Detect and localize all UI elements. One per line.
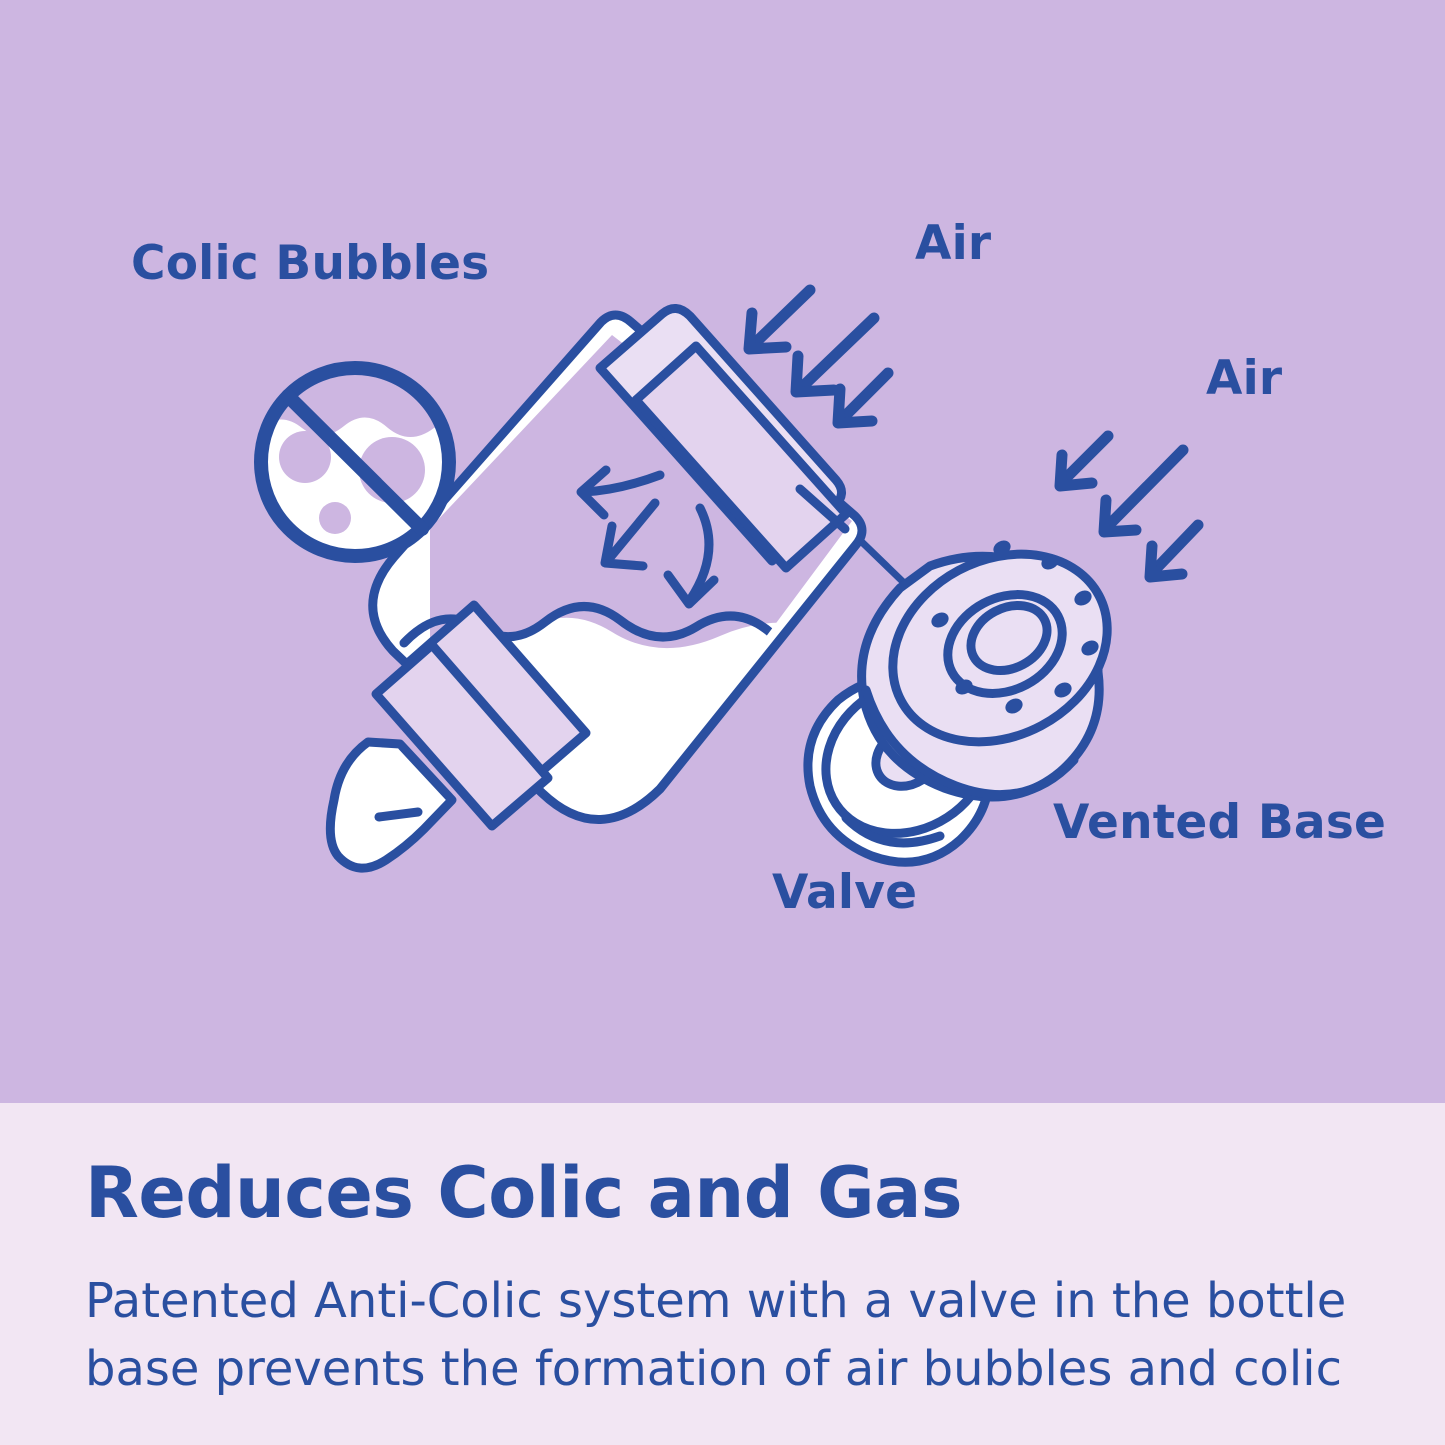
bubble-3 [319, 502, 351, 534]
caption-body-line-2: base prevents the formation of air bubbl… [85, 1335, 1375, 1403]
label-air-right: Air [1206, 355, 1282, 402]
anti-colic-diagram [0, 0, 1445, 1103]
vented-base-icon [860, 518, 1140, 797]
caption-body-line-1: Patented Anti-Colic system with a valve … [85, 1267, 1375, 1335]
label-colic-bubbles: Colic Bubbles [131, 240, 489, 287]
air-inflow-arrow-icon-right [1060, 436, 1198, 577]
caption-headline: Reduces Colic and Gas [85, 1158, 962, 1228]
no-colic-bubbles-icon [255, 362, 455, 565]
label-vented-base: Vented Base [1053, 799, 1386, 846]
product-feature-infographic: Colic Bubbles Air Air Vented Base Valve … [0, 0, 1445, 1445]
label-valve: Valve [772, 869, 917, 916]
caption-body: Patented Anti-Colic system with a valve … [85, 1267, 1375, 1403]
label-air-top: Air [915, 220, 991, 267]
